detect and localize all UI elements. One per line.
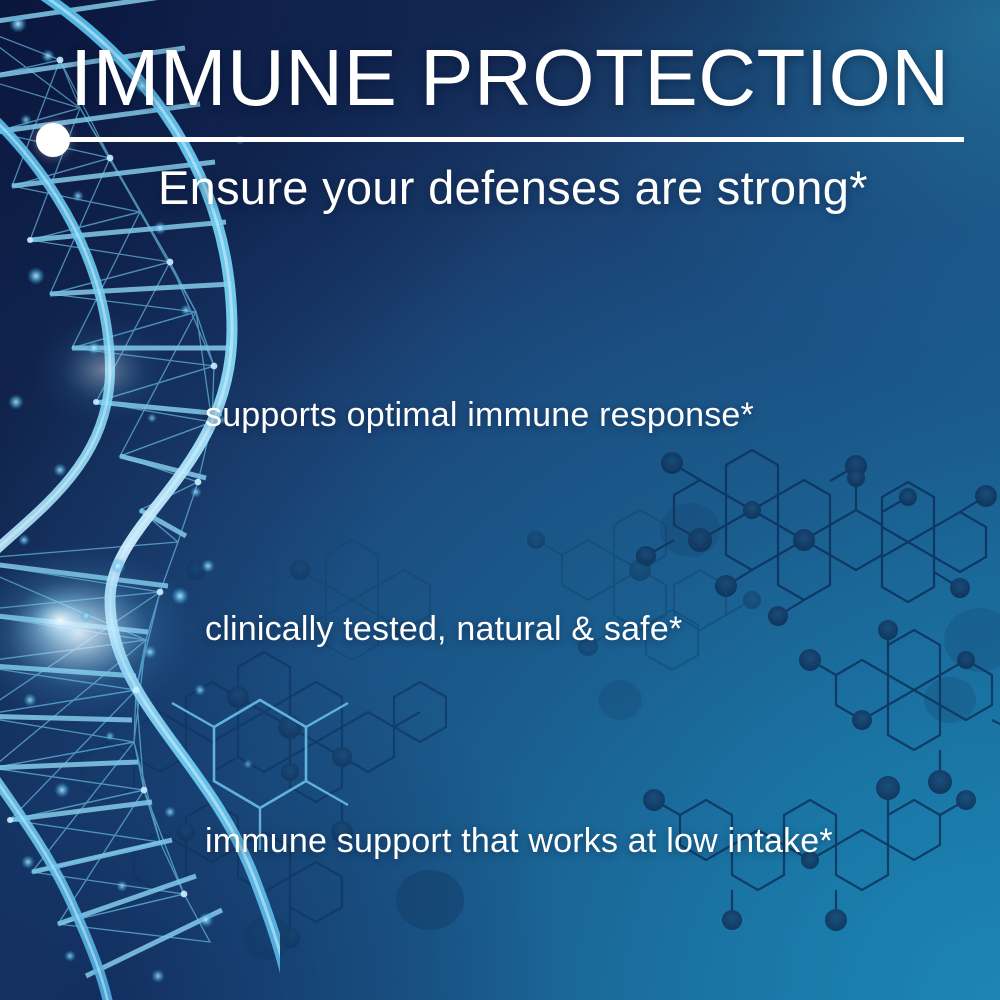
page-subtitle: Ensure your defenses are strong* xyxy=(158,160,978,215)
benefit-item-2: clinically tested, natural & safe* xyxy=(205,610,682,649)
divider-line xyxy=(68,137,964,142)
divider-dot-icon xyxy=(36,123,70,157)
title-divider xyxy=(36,122,966,158)
page-title: IMMUNE PROTECTION xyxy=(70,38,970,118)
immune-protection-banner: IMMUNE PROTECTION Ensure your defenses a… xyxy=(0,0,1000,1000)
benefit-item-1: supports optimal immune response* xyxy=(205,396,754,435)
benefit-item-3: immune support that works at low intake* xyxy=(205,822,833,861)
banner-content: IMMUNE PROTECTION Ensure your defenses a… xyxy=(0,0,1000,1000)
